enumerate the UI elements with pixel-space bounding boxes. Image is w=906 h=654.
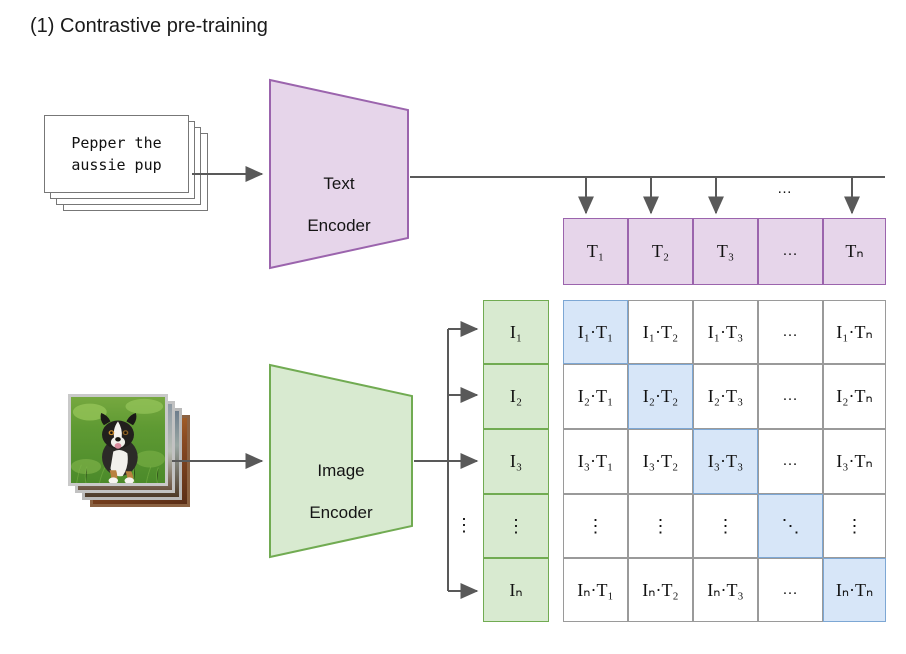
image-embedding-cell-n[interactable]: Iₙ [483,558,549,622]
text-encoder-label: Text Encoder [268,152,410,236]
matrix-cell-r1-c5[interactable]: I₁·Tₙ [823,300,886,364]
matrix-cell-label: Iₙ·T₂ [642,580,678,601]
image-bus-ellipsis: ⋮ [455,515,473,536]
matrix-cell-r5-c5[interactable]: Iₙ·Tₙ [823,558,886,622]
text-embedding-label-3: T₃ [717,241,734,262]
matrix-cell-r1-c4[interactable]: … [758,300,823,364]
matrix-cell-label: … [783,453,799,470]
matrix-cell-label: … [783,582,799,599]
matrix-cell-label: Iₙ·T₃ [707,580,743,601]
text-embedding-cell-n[interactable]: Tₙ [823,218,886,285]
matrix-cell-r4-c5[interactable]: ⋮ [823,494,886,558]
matrix-cell-r1-c3[interactable]: I₁·T₃ [693,300,758,364]
text-caption-line1: Pepper the [71,134,161,152]
text-bus-ellipsis: … [777,180,793,197]
text-caption: Pepper theaussie pup [71,132,161,176]
matrix-cell-label: I₁·Tₙ [836,322,872,343]
matrix-cell-label: I₃·T₂ [643,451,679,472]
text-card-front: Pepper theaussie pup [44,115,189,193]
figure-canvas: (1) Contrastive pre-training Pepper thea… [0,0,906,654]
photo-stack-front [68,394,168,486]
image-embedding-cell-ellipsis: ⋮ [483,494,549,558]
image-embedding-cell-3[interactable]: I₃ [483,429,549,494]
text-caption-line2: aussie pup [71,156,161,174]
matrix-cell-r4-c1[interactable]: ⋮ [563,494,628,558]
matrix-cell-label: Iₙ·T₁ [577,580,613,601]
image-embedding-label-3: I₃ [510,451,522,472]
matrix-cell-label: I₂·T₃ [708,386,744,407]
matrix-cell-r4-c2[interactable]: ⋮ [628,494,693,558]
matrix-cell-r3-c5[interactable]: I₃·Tₙ [823,429,886,494]
matrix-cell-label: I₂·Tₙ [836,386,872,407]
image-embedding-cell-1[interactable]: I₁ [483,300,549,364]
image-encoder-block[interactable]: Image Encoder [268,363,414,559]
matrix-cell-r5-c2[interactable]: Iₙ·T₂ [628,558,693,622]
image-encoder-label: Image Encoder [268,439,414,523]
matrix-cell-label: I₃·T₃ [708,451,744,472]
text-encoder-block[interactable]: Text Encoder [268,78,410,270]
matrix-cell-label: I₁·T₂ [643,322,679,343]
matrix-cell-label: I₃·Tₙ [836,451,872,472]
matrix-cell-r4-c4[interactable]: ⋱ [758,494,823,558]
matrix-cell-r5-c4[interactable]: … [758,558,823,622]
figure-title: (1) Contrastive pre-training [30,13,268,39]
text-embedding-label-1: T₁ [587,241,604,262]
matrix-cell-r2-c3[interactable]: I₂·T₃ [693,364,758,429]
text-embedding-cell-3[interactable]: T₃ [693,218,758,285]
image-encoder-label-line2: Encoder [309,503,372,522]
matrix-cell-label: ⋮ [587,517,605,535]
matrix-cell-r3-c4[interactable]: … [758,429,823,494]
matrix-cell-label: I₂·T₁ [578,386,614,407]
matrix-cell-r3-c1[interactable]: I₃·T₁ [563,429,628,494]
matrix-cell-r2-c5[interactable]: I₂·Tₙ [823,364,886,429]
text-encoder-label-line1: Text [323,174,354,193]
text-embedding-cell-ellipsis: … [758,218,823,285]
matrix-cell-r5-c1[interactable]: Iₙ·T₁ [563,558,628,622]
matrix-cell-label: … [783,388,799,405]
matrix-cell-label: I₁·T₃ [708,322,744,343]
image-embedding-label-1: I₁ [510,322,522,343]
matrix-cell-r1-c2[interactable]: I₁·T₂ [628,300,693,364]
matrix-cell-r1-c1[interactable]: I₁·T₁ [563,300,628,364]
matrix-cell-label: I₃·T₁ [578,451,614,472]
matrix-cell-r2-c2[interactable]: I₂·T₂ [628,364,693,429]
puppy-photo-icon [71,397,165,483]
image-embedding-label-ellipsis: ⋮ [507,517,525,535]
matrix-cell-label: I₁·T₁ [578,322,614,343]
text-embedding-label-2: T₂ [652,241,669,262]
matrix-cell-label: ⋮ [652,517,670,535]
matrix-cell-label: … [783,324,799,341]
matrix-cell-label: ⋱ [782,517,800,535]
matrix-cell-r2-c4[interactable]: … [758,364,823,429]
matrix-cell-r4-c3[interactable]: ⋮ [693,494,758,558]
text-embedding-cell-1[interactable]: T₁ [563,218,628,285]
image-embedding-cell-2[interactable]: I₂ [483,364,549,429]
image-embedding-label-n: Iₙ [509,580,522,601]
image-encoder-label-line1: Image [317,461,364,480]
matrix-cell-r5-c3[interactable]: Iₙ·T₃ [693,558,758,622]
text-embedding-label-n: Tₙ [845,241,863,262]
text-embedding-label-ellipsis: … [783,243,799,260]
matrix-cell-label: I₂·T₂ [643,386,679,407]
matrix-cell-label: ⋮ [846,517,864,535]
matrix-cell-label: Iₙ·Tₙ [836,580,873,601]
matrix-cell-r3-c2[interactable]: I₃·T₂ [628,429,693,494]
matrix-cell-r2-c1[interactable]: I₂·T₁ [563,364,628,429]
text-encoder-label-line2: Encoder [307,216,370,235]
image-embedding-label-2: I₂ [510,386,522,407]
matrix-cell-label: ⋮ [717,517,735,535]
matrix-cell-r3-c3[interactable]: I₃·T₃ [693,429,758,494]
text-embedding-cell-2[interactable]: T₂ [628,218,693,285]
